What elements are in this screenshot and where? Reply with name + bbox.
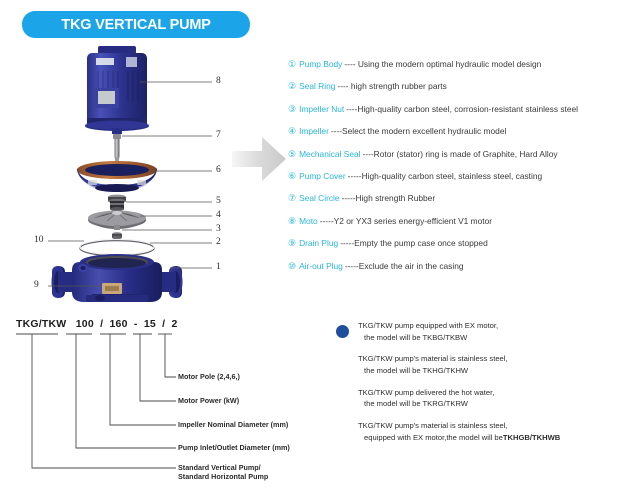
part-description: ----Rotor (stator) ring is made of Graph… xyxy=(363,150,558,158)
impeller-part xyxy=(88,211,146,231)
pump-cover-part xyxy=(77,161,157,192)
callout-3: 3 xyxy=(216,224,221,234)
part-description: -----High strength Rubber xyxy=(342,194,436,202)
part-description: -----Exclude the air in the casing xyxy=(345,262,464,270)
seal-ring-part xyxy=(80,240,154,256)
part-description: -----Empty the pump case once stopped xyxy=(340,239,488,247)
callout-2: 2 xyxy=(216,237,221,247)
legend-line-8: equipped with EX motor,the model will be… xyxy=(358,434,611,442)
part-item-2: ② Seal Ring ---- high strength rubber pa… xyxy=(288,82,613,91)
shaft-part xyxy=(112,128,122,163)
callout-10: 10 xyxy=(34,235,44,245)
impeller-nut-part xyxy=(112,232,122,239)
circled-number-icon: ⑦ xyxy=(288,194,296,203)
part-name: Impeller xyxy=(299,127,329,135)
model-leader-lines xyxy=(0,308,320,493)
part-item-5: ⑤ Mechanical Seal ----Rotor (stator) rin… xyxy=(288,150,613,159)
part-description: -----Y2 or YX3 series energy-efficient V… xyxy=(320,217,492,225)
legend-line-4: the model will be TKHG/TKHW xyxy=(358,367,611,375)
circled-number-icon: ⑩ xyxy=(288,262,296,271)
part-item-10: ⑩ Air-out Plug -----Exclude the air in t… xyxy=(288,262,613,271)
legend-line-5: TKG/TKW pump delivered the hot water, xyxy=(358,389,611,397)
model-label-inlet-diameter: Pump Inlet/Outlet Diameter (mm) xyxy=(178,443,290,453)
circled-number-icon: ⑨ xyxy=(288,239,296,248)
part-name: Drain Plug xyxy=(299,239,338,247)
legend-line-8-model: TKHGB/TKHWB xyxy=(503,433,560,442)
part-description: ----Select the modern excellent hydrauli… xyxy=(331,127,507,135)
page-title-banner: TKG VERTICAL PUMP xyxy=(22,11,250,38)
circled-number-icon: ⑥ xyxy=(288,172,296,181)
part-description: -----High-quality carbon steel, stainles… xyxy=(348,172,543,180)
part-description: ---- Using the modern optimal hydraulic … xyxy=(344,60,541,68)
mechanical-seal-part xyxy=(108,195,126,211)
legend-line-6: the model will be TKRG/TKRW xyxy=(358,400,611,408)
model-label-motor-power: Motor Power (kW) xyxy=(178,396,239,406)
part-item-9: ⑨ Drain Plug -----Empty the pump case on… xyxy=(288,239,613,248)
callout-1: 1 xyxy=(216,262,221,272)
legend-line-1: TKG/TKW pump equipped with EX motor, xyxy=(358,322,611,330)
part-description: ---- high strength rubber parts xyxy=(337,82,446,90)
part-item-8: ⑧ Moto -----Y2 or YX3 series energy-effi… xyxy=(288,217,613,226)
part-item-3: ③ Impeller Nut ----High-quality carbon s… xyxy=(288,105,613,114)
circled-number-icon: ① xyxy=(288,60,296,69)
part-name: Seal Ring xyxy=(299,82,335,90)
part-name: Impeller Nut xyxy=(299,105,344,113)
part-name: Pump Body xyxy=(299,60,342,68)
legend-line-3: TKG/TKW pump's material is stainless ste… xyxy=(358,355,611,363)
product-spec-page: TKG VERTICAL PUMP xyxy=(0,0,617,500)
legend-line-2: the model will be TKBG/TKBW xyxy=(358,334,611,342)
part-name: Pump Cover xyxy=(299,172,346,180)
part-name: Air-out Plug xyxy=(299,262,343,270)
right-arrow-icon xyxy=(230,134,288,184)
legend-line-2-text: the model will be TKBG/TKBW xyxy=(358,334,467,342)
callout-6: 6 xyxy=(216,165,221,175)
circled-number-icon: ④ xyxy=(288,127,296,136)
legend-line-6-text: the model will be TKRG/TKRW xyxy=(358,400,468,408)
callout-5: 5 xyxy=(216,196,221,206)
circled-number-icon: ③ xyxy=(288,105,296,114)
part-item-6: ⑥ Pump Cover -----High-quality carbon st… xyxy=(288,172,613,181)
callout-9: 9 xyxy=(34,280,39,290)
callout-8: 8 xyxy=(216,76,221,86)
pump-exploded-diagram: 8 7 6 5 4 3 2 1 10 9 xyxy=(0,40,250,302)
part-name: Moto xyxy=(299,217,318,225)
page-title: TKG VERTICAL PUMP xyxy=(61,17,210,33)
model-label-standard-horizontal: Standard Horizontal Pump xyxy=(178,472,268,482)
legend-line-8-text: equipped with EX motor,the model will be xyxy=(358,434,503,442)
pump-body-part xyxy=(52,254,183,302)
part-item-4: ④ Impeller ----Select the modern excelle… xyxy=(288,127,613,136)
callout-7: 7 xyxy=(216,130,221,140)
model-label-motor-pole: Motor Pole (2,4,6,) xyxy=(178,372,240,382)
model-variant-legend: TKG/TKW pump equipped with EX motor, the… xyxy=(336,322,611,456)
part-item-7: ⑦ Seal Circle -----High strength Rubber xyxy=(288,194,613,203)
callout-4: 4 xyxy=(216,210,221,220)
model-designation-diagram: TKG/TKW 100 / 160 - 15 / 2 xyxy=(0,308,320,493)
part-name: Seal Circle xyxy=(299,194,340,202)
part-name: Mechanical Seal xyxy=(299,150,360,158)
part-item-1: ① Pump Body ---- Using the modern optima… xyxy=(288,60,613,69)
legend-line-4-text: the model will be TKHG/TKHW xyxy=(358,367,468,375)
legend-line-7: TKG/TKW pump's material is stainless ste… xyxy=(358,422,611,430)
circled-number-icon: ⑧ xyxy=(288,217,296,226)
parts-description-list: ① Pump Body ---- Using the modern optima… xyxy=(288,60,613,284)
part-description: ----High-quality carbon steel, corrosion… xyxy=(346,105,578,113)
circled-number-icon: ⑤ xyxy=(288,150,296,159)
motor-part xyxy=(85,46,149,131)
circled-number-icon: ② xyxy=(288,82,296,91)
model-label-impeller-diameter: Impeller Nominal Diameter (mm) xyxy=(178,420,288,430)
bullet-icon xyxy=(336,325,349,338)
